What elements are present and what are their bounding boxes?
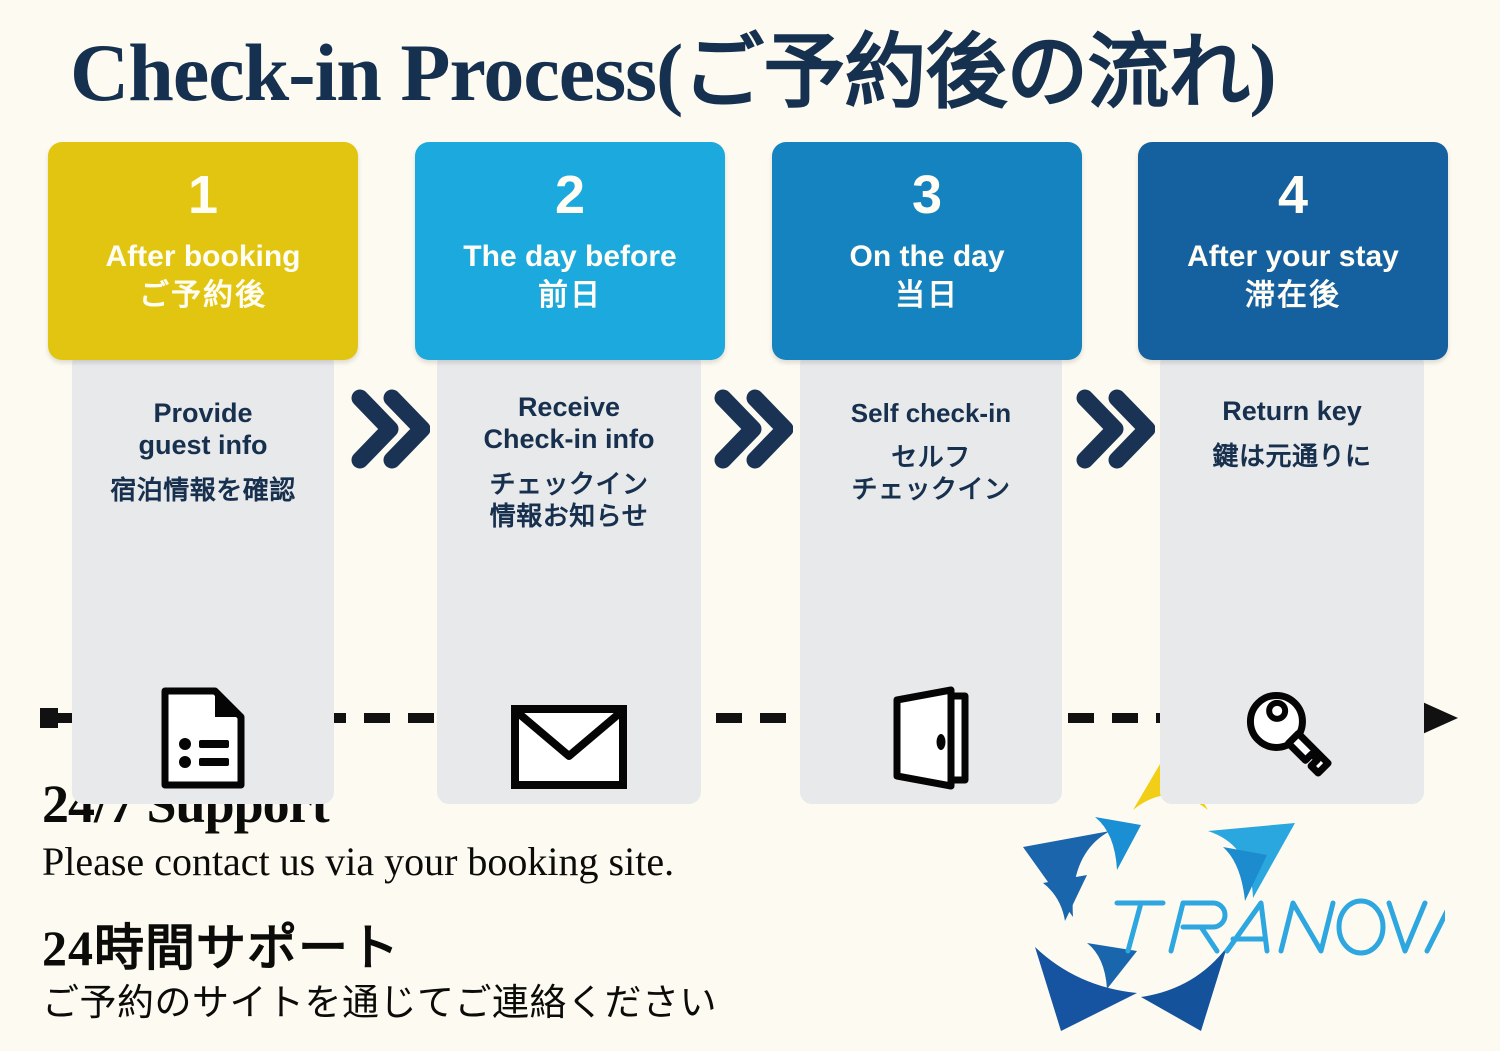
step-body-2: Receive Check-in info チェックイン 情報お知らせ: [437, 352, 701, 804]
document-list-icon: [159, 686, 247, 790]
step-number-2: 2: [555, 142, 585, 222]
step-body-jp-3: セルフ チェックイン: [851, 441, 1010, 506]
step-number-4: 4: [1278, 142, 1308, 222]
infographic-root: Check-in Process(ご予約後の流れ) Provide guest …: [0, 0, 1500, 1051]
step-header-2: 2 The day before 前日: [415, 142, 725, 360]
step-header-4: 4 After your stay 滞在後: [1138, 142, 1448, 360]
step-label-en-1: After booking: [106, 240, 301, 274]
step-label-jp-4: 滞在後: [1245, 278, 1341, 314]
step-card-3: Self check-in セルフ チェックイン 3 On the day 当日: [772, 142, 1082, 360]
step-number-3: 3: [912, 142, 942, 222]
step-body-en-2: Receive Check-in info: [483, 392, 654, 456]
open-door-icon: [889, 686, 973, 790]
step-body-jp-1: 宿泊情報を確認: [110, 474, 296, 507]
step-body-4: Return key 鍵は元通りに: [1160, 352, 1424, 804]
step-label-en-4: After your stay: [1187, 240, 1399, 274]
support-subtitle-en: Please contact us via your booking site.: [42, 838, 674, 885]
step-body-en-4: Return key: [1222, 396, 1362, 428]
key-icon: [1236, 684, 1348, 790]
double-chevron-right-icon: [713, 388, 793, 475]
step-body-jp-4: 鍵は元通りに: [1212, 440, 1371, 473]
support-title-jp: 24時間サポート: [42, 908, 400, 980]
step-body-1: Provide guest info 宿泊情報を確認: [72, 352, 334, 804]
step-card-4: Return key 鍵は元通りに 4 After your stay 滞在後: [1138, 142, 1448, 360]
double-chevron-right-icon: [1075, 388, 1155, 475]
step-body-en-1: Provide guest info: [139, 398, 268, 462]
step-number-1: 1: [188, 142, 218, 222]
step-label-jp-2: 前日: [538, 278, 602, 314]
step-label-jp-3: 当日: [895, 278, 959, 314]
step-label-en-3: On the day: [849, 240, 1004, 274]
step-label-jp-1: ご予約後: [139, 278, 267, 314]
step-header-3: 3 On the day 当日: [772, 142, 1082, 360]
support-subtitle-jp: ご予約のサイトを通じてご連絡ください: [42, 972, 717, 1026]
step-label-en-2: The day before: [463, 240, 676, 274]
step-card-1: Provide guest info 宿泊情報を確認 1 After booki…: [48, 142, 358, 360]
step-body-en-3: Self check-in: [851, 398, 1011, 429]
step-header-1: 1 After booking ご予約後: [48, 142, 358, 360]
step-body-3: Self check-in セルフ チェックイン: [800, 352, 1062, 804]
page-title: Check-in Process(ご予約後の流れ): [70, 18, 1470, 128]
step-body-jp-2: チェックイン 情報お知らせ: [489, 468, 648, 533]
double-chevron-right-icon: [350, 388, 430, 475]
envelope-icon: [510, 704, 628, 790]
step-card-2: Receive Check-in info チェックイン 情報お知らせ 2 Th…: [415, 142, 725, 360]
